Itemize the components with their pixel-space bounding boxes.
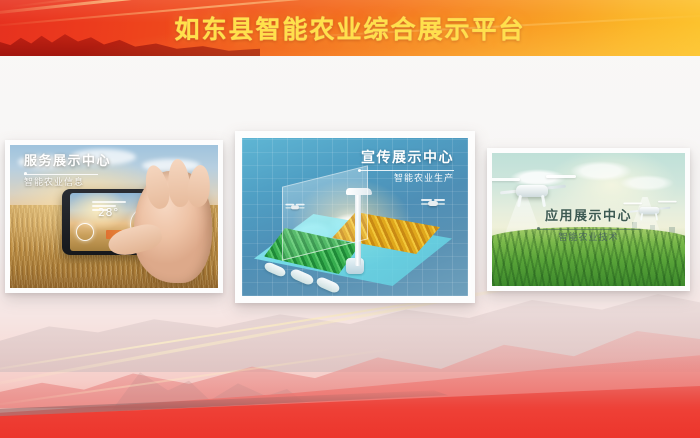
title-divider bbox=[537, 229, 641, 230]
mountain-ridge-mid bbox=[0, 293, 700, 408]
card-title: 宣传展示中心 bbox=[358, 150, 454, 166]
card-application-caption: 应用展示中心 智能农业技术 bbox=[492, 210, 685, 243]
card-subtitle: 智能农业生产 bbox=[358, 174, 454, 184]
card-subtitle: 智能农业信息 bbox=[24, 178, 111, 188]
header-banner: 如东县智能农业综合展示平台 bbox=[0, 0, 700, 56]
card-promotion-image: 宣传展示中心 智能农业生产 bbox=[242, 138, 468, 296]
card-title: 应用展示中心 bbox=[492, 210, 685, 225]
card-services-center[interactable]: 28° 服务展示中心 智能农业信息 bbox=[5, 140, 223, 293]
card-title: 服务展示中心 bbox=[24, 155, 111, 170]
card-services-caption: 服务展示中心 智能农业信息 bbox=[24, 155, 111, 188]
card-subtitle: 智能农业技术 bbox=[492, 233, 685, 243]
drone-icon bbox=[422, 198, 444, 208]
mountain-ridge-near bbox=[0, 348, 700, 438]
platform-screen: 如东县智能农业综合展示平台 28° bbox=[0, 0, 700, 438]
drone-icon bbox=[286, 203, 304, 211]
hud-ring-icon bbox=[76, 223, 94, 241]
card-services-image: 28° 服务展示中心 智能农业信息 bbox=[10, 145, 218, 288]
banner-light-streak bbox=[10, 0, 348, 8]
card-promotion-caption: 宣传展示中心 智能农业生产 bbox=[358, 150, 454, 184]
title-divider bbox=[24, 174, 98, 175]
hand bbox=[134, 171, 212, 283]
card-application-center[interactable]: 应用展示中心 智能农业技术 bbox=[487, 148, 690, 291]
card-promotion-center[interactable]: 宣传展示中心 智能农业生产 bbox=[235, 131, 475, 303]
diagonal-shadow-band bbox=[0, 388, 700, 428]
mountain-peaks bbox=[0, 340, 700, 410]
drone-icon bbox=[496, 175, 570, 205]
title-divider bbox=[358, 170, 454, 171]
finger bbox=[186, 164, 212, 208]
page-title: 如东县智能农业综合展示平台 bbox=[0, 10, 700, 46]
diagonal-red-band bbox=[0, 386, 700, 438]
light-streak bbox=[0, 348, 396, 408]
hud-data-bars bbox=[92, 201, 126, 213]
card-application-image: 应用展示中心 智能农业技术 bbox=[492, 153, 685, 286]
